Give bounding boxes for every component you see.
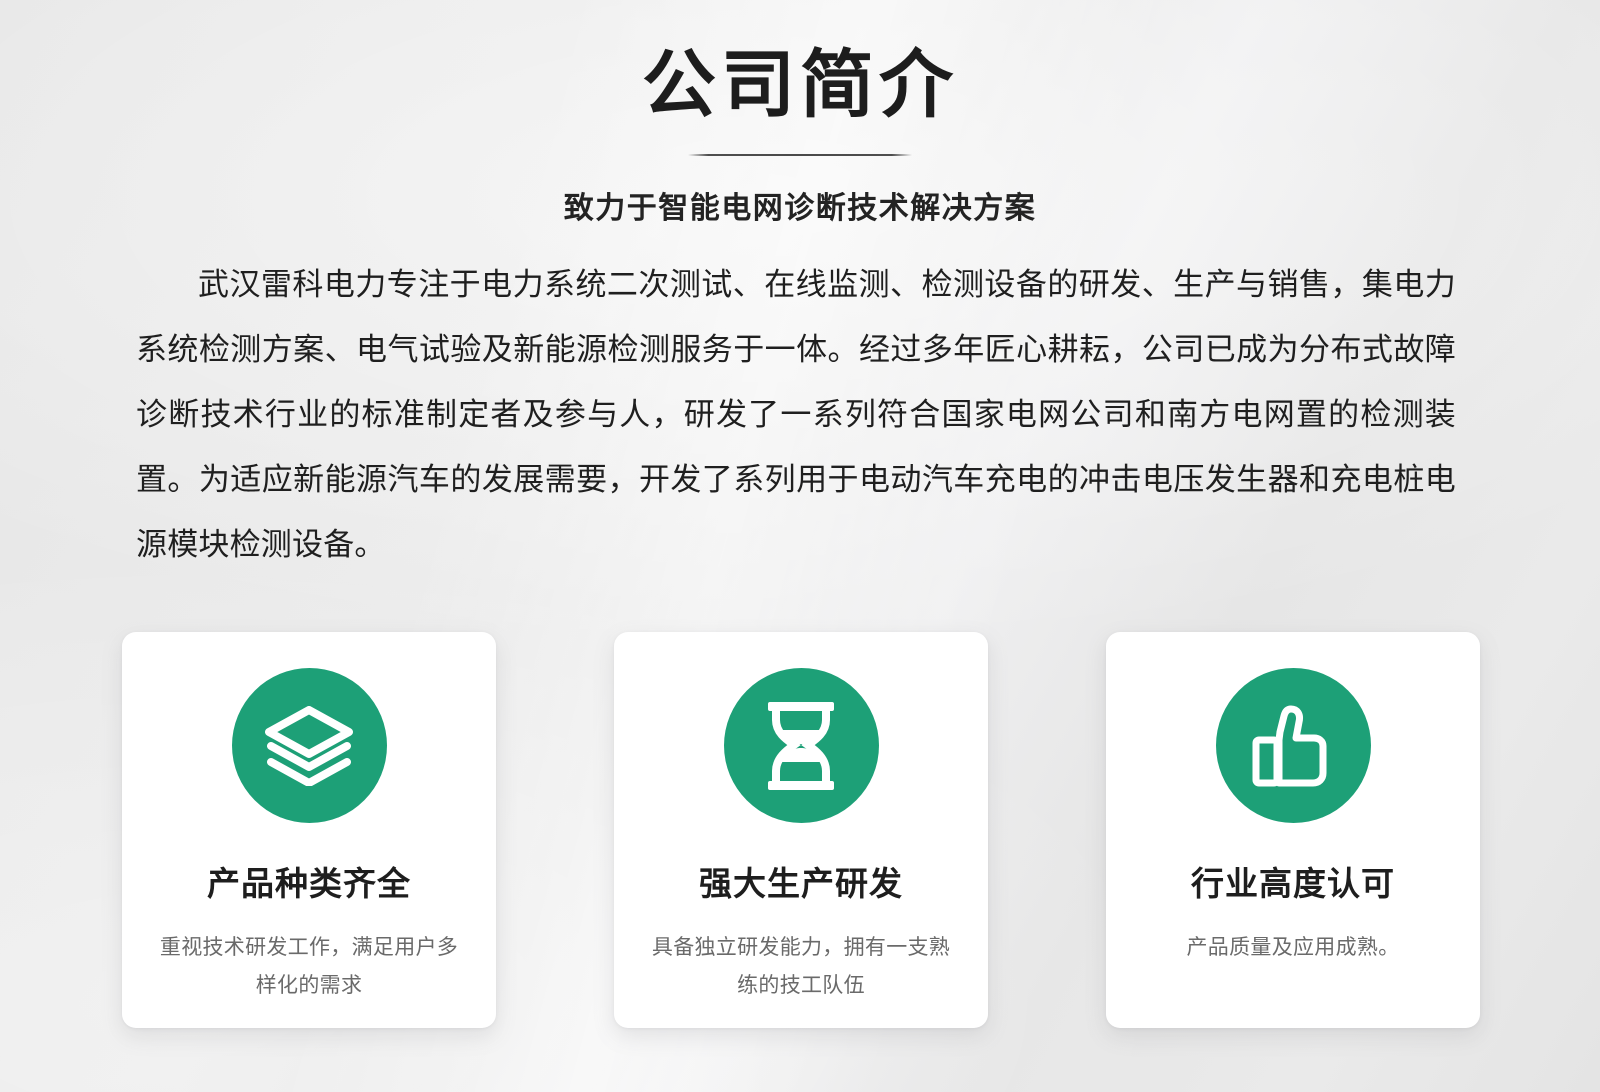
feature-card[interactable]: 强大生产研发 具备独立研发能力，拥有一支熟练的技工队伍 [614,632,988,1028]
feature-card-list: 产品种类齐全 重视技术研发工作，满足用户多样化的需求 强大生产研发 [122,632,1480,1028]
page-header: 公司简介 致力于智能电网诊断技术解决方案 [0,0,1600,227]
feature-card-title: 行业高度认可 [1191,857,1395,905]
title-divider [688,154,912,156]
layers-icon [263,706,355,786]
feature-card[interactable]: 产品种类齐全 重视技术研发工作，满足用户多样化的需求 [122,632,496,1028]
feature-card-title: 产品种类齐全 [207,857,411,905]
icon-badge [1216,668,1371,823]
icon-badge [232,668,387,823]
feature-card-description: 重视技术研发工作，满足用户多样化的需求 [159,929,459,1005]
company-intro-paragraph: 武汉雷科电力专注于电力系统二次测试、在线监测、检测设备的研发、生产与销售，集电力… [136,252,1456,577]
hourglass-icon [762,700,840,792]
feature-card-description: 产品质量及应用成熟。 [1143,929,1443,967]
company-intro-page: 公司简介 致力于智能电网诊断技术解决方案 武汉雷科电力专注于电力系统二次测试、在… [0,0,1600,1092]
page-title: 公司简介 [0,42,1600,128]
feature-card-description: 具备独立研发能力，拥有一支熟练的技工队伍 [651,929,951,1005]
feature-card-title: 强大生产研发 [699,857,903,905]
page-subtitle: 致力于智能电网诊断技术解决方案 [0,183,1600,227]
thumbs-up-icon [1249,702,1337,790]
feature-card[interactable]: 行业高度认可 产品质量及应用成熟。 [1106,632,1480,1028]
icon-badge [724,668,879,823]
